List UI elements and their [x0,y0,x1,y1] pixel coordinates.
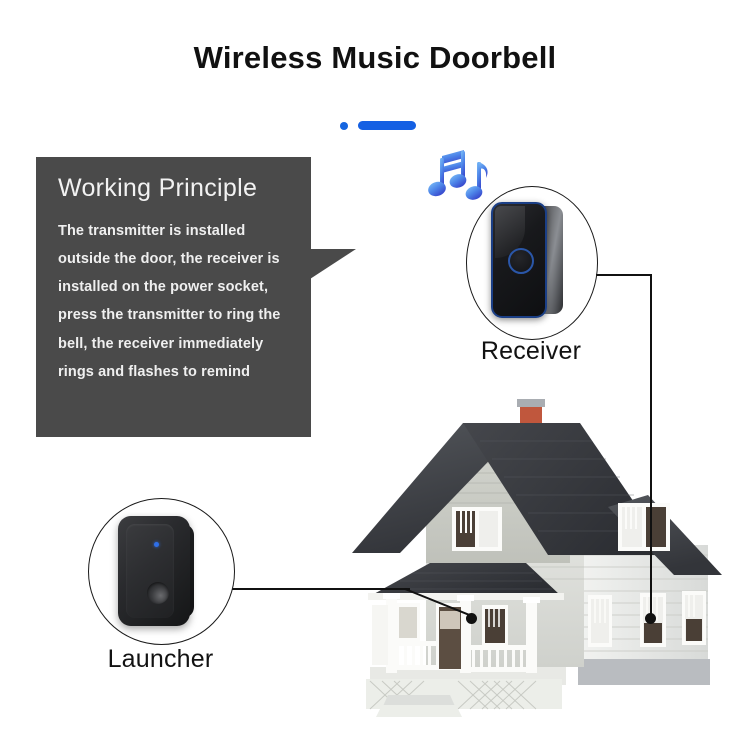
receiver-button [508,248,534,274]
launcher-push-button [147,582,169,604]
callout-tail [310,249,356,279]
leader-line-receiver-horizontal [596,274,652,276]
launcher-led-indicator [154,542,159,547]
launcher-face-panel [126,524,174,618]
music-notes-icon [424,142,496,214]
signal-dot [340,122,348,130]
launcher-device-image [118,516,204,628]
leader-line-receiver-vertical [650,274,652,619]
leader-endpoint-receiver [645,613,656,624]
callout-heading: Working Principle [58,175,291,203]
page-title: Wireless Music Doorbell [0,40,750,76]
signal-bar [358,121,416,130]
leader-line-launcher-horizontal [232,588,410,590]
receiver-device-image [487,202,567,320]
receiver-body [491,202,547,318]
launcher-shell [118,516,190,626]
receiver-label: Receiver [466,337,596,366]
house-svg [330,395,740,725]
house-model-image [330,395,740,725]
product-infographic: Wireless Music Doorbell [0,0,750,750]
working-principle-callout: Working Principle The transmitter is ins… [36,157,311,437]
callout-body-text: The transmitter is installed outside the… [58,217,291,387]
launcher-label: Launcher [88,645,233,674]
music-notes-svg [424,142,496,214]
leader-endpoint-launcher [466,613,477,624]
